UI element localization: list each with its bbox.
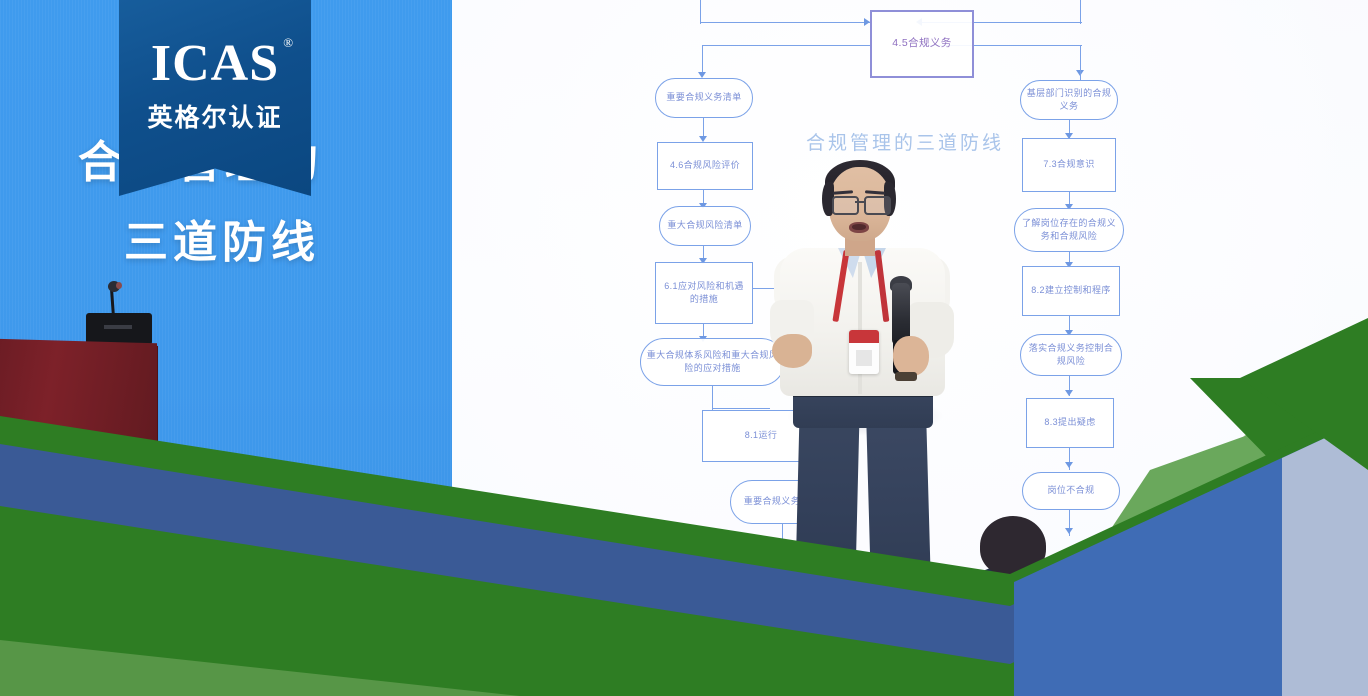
audience-head — [980, 516, 1046, 576]
speaker-glasses-lens-left — [832, 196, 859, 215]
speaker-badge-qr-code — [856, 350, 872, 366]
audience-head — [738, 556, 800, 612]
audience-head — [1218, 540, 1292, 606]
registered-trademark-icon: ® — [283, 36, 294, 49]
speaker-leg-left — [795, 419, 860, 615]
speaker-badge-header — [849, 330, 879, 343]
flow-node-major-risk-response: 重大合规体系风险和重大合规风险的应对措施 — [640, 338, 785, 386]
microphone-tip-icon — [116, 282, 122, 289]
connector — [712, 386, 713, 410]
stage-title-line-bottom: 三道防线 — [124, 206, 320, 270]
flow-node-7-3-compliance-awareness: 7.3合规意识 — [1022, 138, 1116, 192]
flow-node-post-non-compliance: 岗位不合规 — [1022, 472, 1120, 510]
flow-node-department-identified-obligations: 基层部门识别的合规义务 — [1020, 80, 1118, 120]
speaker-hand-left — [772, 334, 812, 368]
connector — [1080, 68, 1081, 80]
flow-node-major-risk-list: 重大合规风险清单 — [659, 206, 751, 246]
microphone-grille — [104, 325, 132, 329]
connector — [700, 0, 701, 24]
speaker-wristwatch — [895, 372, 917, 381]
connector — [700, 22, 870, 23]
flow-node-4-5-compliance-obligations: 4.5合规义务 — [870, 10, 974, 78]
icas-wordmark: ICAS ® — [151, 38, 279, 90]
icas-chinese-name: 英格尔认证 — [147, 98, 282, 134]
speaker-mouth-inner — [852, 224, 866, 230]
icas-logo-badge: ICAS ® 英格尔认证 — [119, 0, 311, 196]
audience-body — [956, 566, 1074, 696]
flow-node-4-6-risk-evaluation: 4.6合规风险评价 — [657, 142, 753, 190]
connector-arrow — [778, 540, 786, 546]
speaker-leg-right — [866, 419, 931, 616]
slide-title: 合规管理的三道防线 — [806, 128, 1004, 155]
podium-microphone-unit — [86, 313, 152, 345]
connector-arrow — [1065, 462, 1073, 468]
podium — [0, 339, 157, 469]
speaker-shirt-placket — [858, 262, 862, 394]
icas-wordmark-text: ICAS — [151, 35, 279, 92]
flow-node-understand-post-obligations: 了解岗位存在的合规义务和合规风险 — [1014, 208, 1124, 252]
flow-node-6-1-risk-opportunity-measures: 6.1应对风险和机遇的措施 — [655, 262, 753, 324]
connector — [1080, 0, 1081, 24]
audience-body — [596, 586, 714, 696]
connector-arrow — [1065, 390, 1073, 396]
flow-node-implement-obligations-control-risk: 落实合规义务控制合规风险 — [1020, 334, 1122, 376]
screenshot-stage: 4.5合规义务 重要合规义务清单 4.6合规风险评价 重大合规风险清单 6.1应… — [0, 0, 1368, 696]
speaker-glasses-lens-right — [864, 196, 891, 215]
flow-node-8-2-controls-procedures: 8.2建立控制和程序 — [1022, 266, 1120, 316]
speaker-glasses-bridge — [855, 201, 864, 203]
flow-node-8-3-raise-concerns: 8.3提出疑虑 — [1026, 398, 1114, 448]
connector — [702, 45, 870, 46]
connector-arrow — [1065, 528, 1073, 534]
connector — [702, 45, 703, 75]
audience-head — [618, 533, 688, 595]
flow-node-key-obligation-list: 重要合规义务清单 — [655, 78, 753, 118]
speaker-hand-right — [893, 336, 929, 376]
